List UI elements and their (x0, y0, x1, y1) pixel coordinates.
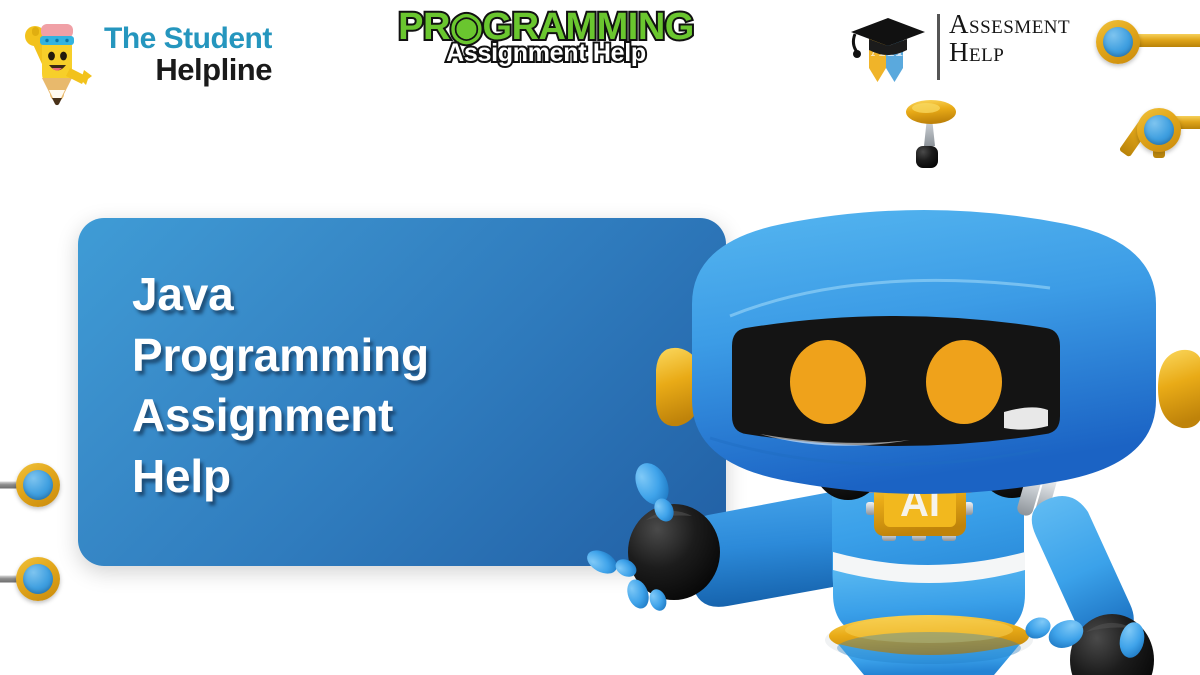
robot-head (656, 100, 1200, 494)
circuit-node-right-1 (1096, 20, 1140, 64)
pencil-mascot-icon (16, 14, 100, 106)
circuit-node-left-2 (0, 556, 70, 602)
graduation-cap-icon: A H (845, 10, 931, 88)
ai-robot-mascot: AI (560, 100, 1200, 675)
antenna-base (916, 146, 938, 168)
logo-divider (937, 14, 940, 80)
assessment-help-wordmark: Assesment Help (949, 10, 1070, 67)
eye-left (790, 340, 866, 424)
student-helpline-wordmark: The Student Helpline (104, 24, 274, 87)
circuit-node-left-1 (0, 462, 70, 508)
assessment-help-line2: Help (949, 38, 1070, 66)
circuit-node-ring (16, 557, 60, 601)
circuit-node-ring (16, 463, 60, 507)
student-helpline-line1: The Student (104, 24, 274, 54)
robot-right-arm (1016, 469, 1154, 675)
student-helpline-line2: Helpline (104, 54, 274, 87)
assessment-help-line1: Assesment (949, 10, 1070, 38)
ear-right (1158, 350, 1200, 428)
poster-canvas: The Student Helpline PR◉GRAMMING Assignm… (0, 0, 1200, 675)
logo-student-helpline[interactable]: The Student Helpline (8, 8, 268, 104)
logo-assessment-help[interactable]: A H Assesment Help (845, 4, 1110, 94)
logo-programming-assignment-help[interactable]: PR◉GRAMMING Assignment Help (386, 8, 706, 88)
eye-right (926, 340, 1002, 424)
